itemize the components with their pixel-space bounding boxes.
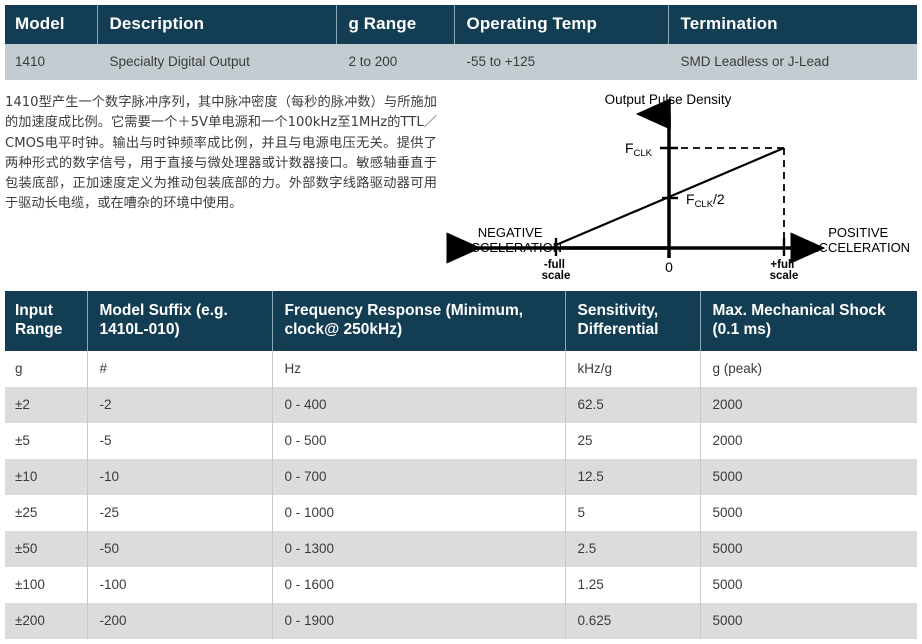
cell-sensitivity: 5	[565, 495, 700, 531]
chart-title: Output Pulse Density	[605, 92, 732, 107]
cell-input-range: ±200	[5, 603, 87, 639]
table-header-row: Model Description g Range Operating Temp…	[5, 5, 917, 44]
x-tick-label-origin: 0	[665, 259, 673, 275]
cell-model-suffix: -2	[87, 387, 272, 423]
cell-sensitivity: 2.5	[565, 531, 700, 567]
table-row: ±50 -50 0 - 1300 2.5 5000	[5, 531, 917, 567]
x-tick-label-plus-full-scale: +full scale	[770, 259, 799, 280]
cell-input-range: ±50	[5, 531, 87, 567]
cell-input-range: ±25	[5, 495, 87, 531]
column-header-model: Model	[5, 5, 97, 44]
cell-model-suffix: -25	[87, 495, 272, 531]
column-header-operating-temp: Operating Temp	[454, 5, 668, 44]
axis-label-negative-acceleration: NEGATIVE ACCELERATION	[462, 225, 562, 255]
cell-model-suffix: -100	[87, 567, 272, 603]
product-description-text: 1410型产生一个数字脉冲序列，其中脉冲密度（每秒的脉冲数）与所施加的加速度成比…	[5, 93, 437, 215]
cell-input-range: ±100	[5, 567, 87, 603]
axis-label-positive-acceleration: POSITIVE ACCELERATION	[810, 225, 910, 255]
output-pulse-density-diagram: Output Pulse Density FCLK FCLK/2 0 -full	[440, 88, 922, 280]
table-row: ±25 -25 0 - 1000 5 5000	[5, 495, 917, 531]
table-row: ±200 -200 0 - 1900 0.625 5000	[5, 603, 917, 639]
cell-frequency-response: 0 - 1900	[272, 603, 565, 639]
column-header-termination: Termination	[668, 5, 917, 44]
cell-frequency-response: 0 - 500	[272, 423, 565, 459]
cell-description: Specialty Digital Output	[97, 44, 336, 80]
column-header-input-range: Input Range	[5, 291, 87, 351]
column-header-model-suffix: Model Suffix (e.g. 1410L-010)	[87, 291, 272, 351]
cell-shock: 5000	[700, 531, 917, 567]
table-row: 1410 Specialty Digital Output 2 to 200 -…	[5, 44, 917, 80]
cell-shock: 5000	[700, 603, 917, 639]
cell-input-range: ±5	[5, 423, 87, 459]
table-row: ±10 -10 0 - 700 12.5 5000	[5, 459, 917, 495]
cell-unit-input-range: g	[5, 351, 87, 387]
cell-g-range: 2 to 200	[336, 44, 454, 80]
cell-unit-model-suffix: #	[87, 351, 272, 387]
cell-sensitivity: 0.625	[565, 603, 700, 639]
cell-frequency-response: 0 - 1300	[272, 531, 565, 567]
cell-input-range: ±10	[5, 459, 87, 495]
table-row: ±2 -2 0 - 400 62.5 2000	[5, 387, 917, 423]
cell-shock: 5000	[700, 495, 917, 531]
cell-shock: 5000	[700, 567, 917, 603]
column-header-max-mechanical-shock: Max. Mechanical Shock (0.1 ms)	[700, 291, 917, 351]
specification-summary-table: Model Description g Range Operating Temp…	[5, 5, 917, 80]
cell-model-suffix: -5	[87, 423, 272, 459]
cell-unit-frequency-response: Hz	[272, 351, 565, 387]
cell-sensitivity: 62.5	[565, 387, 700, 423]
column-header-description: Description	[97, 5, 336, 44]
x-tick-label-minus-full-scale: -full scale	[542, 259, 571, 280]
cell-model: 1410	[5, 44, 97, 80]
table-row: ±5 -5 0 - 500 25 2000	[5, 423, 917, 459]
cell-unit-shock: g (peak)	[700, 351, 917, 387]
cell-frequency-response: 0 - 700	[272, 459, 565, 495]
column-header-g-range: g Range	[336, 5, 454, 44]
cell-shock: 2000	[700, 423, 917, 459]
cell-shock: 2000	[700, 387, 917, 423]
input-range-specification-table: Input Range Model Suffix (e.g. 1410L-010…	[5, 291, 917, 639]
y-tick-label-fclk: FCLK	[625, 140, 653, 159]
cell-model-suffix: -200	[87, 603, 272, 639]
cell-model-suffix: -10	[87, 459, 272, 495]
table-row-units: g # Hz kHz/g g (peak)	[5, 351, 917, 387]
cell-model-suffix: -50	[87, 531, 272, 567]
cell-frequency-response: 0 - 1600	[272, 567, 565, 603]
cell-frequency-response: 0 - 1000	[272, 495, 565, 531]
table-row: ±100 -100 0 - 1600 1.25 5000	[5, 567, 917, 603]
cell-frequency-response: 0 - 400	[272, 387, 565, 423]
cell-operating-temp: -55 to +125	[454, 44, 668, 80]
cell-shock: 5000	[700, 459, 917, 495]
table-header-row: Input Range Model Suffix (e.g. 1410L-010…	[5, 291, 917, 351]
cell-sensitivity: 1.25	[565, 567, 700, 603]
cell-sensitivity: 25	[565, 423, 700, 459]
y-tick-label-fclk-half: FCLK/2	[686, 191, 725, 210]
cell-termination: SMD Leadless or J-Lead	[668, 44, 917, 80]
cell-input-range: ±2	[5, 387, 87, 423]
column-header-sensitivity-differential: Sensitivity, Differential	[565, 291, 700, 351]
cell-unit-sensitivity: kHz/g	[565, 351, 700, 387]
column-header-frequency-response: Frequency Response (Minimum, clock@ 250k…	[272, 291, 565, 351]
cell-sensitivity: 12.5	[565, 459, 700, 495]
